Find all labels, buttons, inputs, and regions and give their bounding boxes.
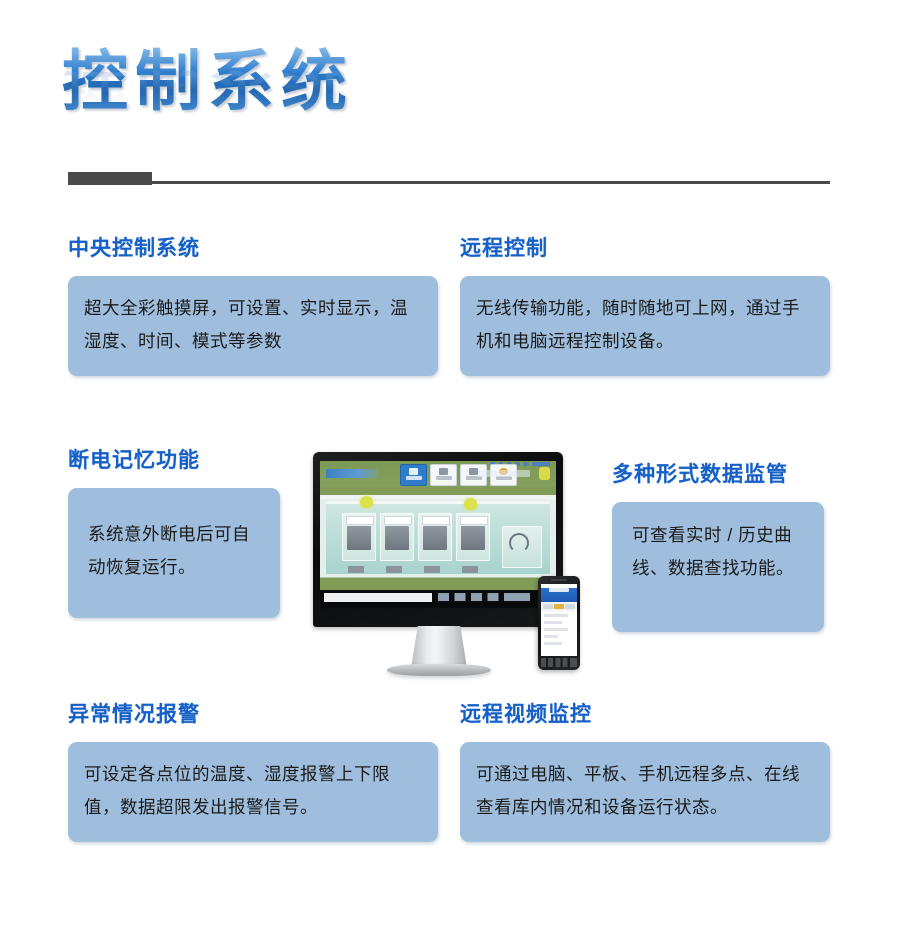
footer-input-field[interactable]	[324, 593, 432, 602]
feature-title-alarm: 异常情况报警	[68, 700, 438, 730]
monitor-stand-base	[387, 664, 491, 676]
feature-body-central: 超大全彩触摸屏，可设置、实时显示，温湿度、时间、模式等参数	[68, 276, 438, 376]
phone-screen	[541, 584, 577, 656]
user-avatar-icon[interactable]	[539, 467, 550, 480]
feature-title-central: 中央控制系统	[68, 234, 438, 264]
page-title-wrapper: 控制系统 控制系统	[62, 44, 482, 174]
scada-tab-monitor[interactable]	[400, 464, 427, 486]
phone-keypad[interactable]	[541, 658, 577, 667]
phone-tab-row	[541, 602, 577, 611]
loading-dock	[386, 566, 402, 573]
feature-title-remote: 远程控制	[460, 234, 830, 264]
page-banner: 控制系统 控制系统	[0, 0, 900, 205]
monitor-icon	[409, 468, 418, 475]
room-meter-readout	[422, 516, 450, 525]
scada-logo	[326, 469, 378, 478]
equipment-room	[502, 526, 542, 568]
storage-room	[342, 513, 376, 561]
scada-tab-label	[406, 476, 422, 480]
feature-body-alarm: 可设定各点位的温度、湿度报警上下限值，数据超限发出报警信号。	[68, 742, 438, 842]
feature-title-data: 多种形式数据监管	[612, 460, 832, 490]
smartphone	[538, 576, 580, 670]
feature-body-data: 可查看实时 / 历史曲线、数据查找功能。	[612, 502, 824, 632]
phone-data-list	[541, 611, 577, 652]
phone-list-item	[544, 642, 562, 645]
scada-topbar	[320, 461, 556, 487]
feature-title-memory: 断电记忆功能	[68, 446, 288, 476]
status-lamp-icon	[360, 496, 373, 508]
page-title: 控制系统	[62, 44, 482, 118]
phone-speaker-grille	[551, 579, 567, 581]
room-meter-readout	[346, 516, 374, 525]
feature-remote-control: 远程控制 无线传输功能，随时随地可上网，通过手机和电脑远程控制设备。	[460, 234, 830, 376]
feature-data-supervision: 多种形式数据监管 可查看实时 / 历史曲线、数据查找功能。	[612, 460, 832, 632]
monitor-screen	[320, 461, 556, 608]
status-lamp-icon	[464, 498, 477, 510]
phone-list-item	[544, 635, 558, 638]
phone-app-title	[549, 588, 569, 592]
scada-tab-label	[436, 476, 452, 480]
phone-tab[interactable]	[565, 604, 575, 609]
chart-icon	[439, 468, 448, 475]
storage-rack	[347, 526, 371, 550]
feature-remote-video-monitoring: 远程视频监控 可通过电脑、平板、手机远程多点、在线查看库内情况和设备运行状态。	[460, 700, 830, 842]
feature-abnormal-alarm: 异常情况报警 可设定各点位的温度、湿度报警上下限值，数据超限发出报警信号。	[68, 700, 438, 842]
storage-room	[380, 513, 414, 561]
desktop-monitor	[313, 452, 563, 627]
phone-app-header	[541, 588, 577, 602]
scada-footer-bar	[320, 590, 556, 608]
loading-dock	[348, 566, 364, 573]
header-divider	[68, 172, 830, 186]
footer-alarm-ticker	[438, 593, 530, 601]
divider-thin-segment	[152, 181, 830, 184]
storage-room	[418, 513, 452, 561]
storage-rack	[385, 526, 409, 550]
refrigeration-coil-icon	[509, 533, 529, 553]
feature-title-video: 远程视频监控	[460, 700, 830, 730]
phone-tab[interactable]	[543, 604, 553, 609]
storage-room	[456, 513, 490, 561]
room-meter-readout	[460, 516, 488, 525]
feature-body-video: 可通过电脑、平板、手机远程多点、在线查看库内情况和设备运行状态。	[460, 742, 830, 842]
device-illustration	[310, 452, 600, 682]
storage-rack	[423, 526, 447, 550]
document-icon	[469, 468, 478, 475]
phone-tab-active[interactable]	[554, 604, 564, 609]
feature-body-remote: 无线传输功能，随时随地可上网，通过手机和电脑远程控制设备。	[460, 276, 830, 376]
divider-thick-segment	[68, 172, 152, 185]
scada-floor-plan	[320, 487, 556, 590]
scada-status-text	[478, 470, 530, 477]
loading-dock	[462, 566, 478, 573]
feature-power-off-memory: 断电记忆功能 系统意外断电后可自动恢复运行。	[68, 446, 288, 618]
phone-list-item	[544, 621, 562, 624]
monitor-stand-neck	[411, 626, 467, 668]
feature-body-memory: 系统意外断电后可自动恢复运行。	[68, 488, 280, 618]
scada-tab-data[interactable]	[430, 464, 457, 486]
phone-list-item	[544, 614, 568, 617]
phone-list-item	[544, 628, 568, 631]
room-meter-readout	[384, 516, 412, 525]
warehouse-floor	[326, 501, 550, 574]
storage-rack	[461, 526, 485, 550]
feature-central-control-system: 中央控制系统 超大全彩触摸屏，可设置、实时显示，温湿度、时间、模式等参数	[68, 234, 438, 376]
loading-dock	[424, 566, 440, 573]
